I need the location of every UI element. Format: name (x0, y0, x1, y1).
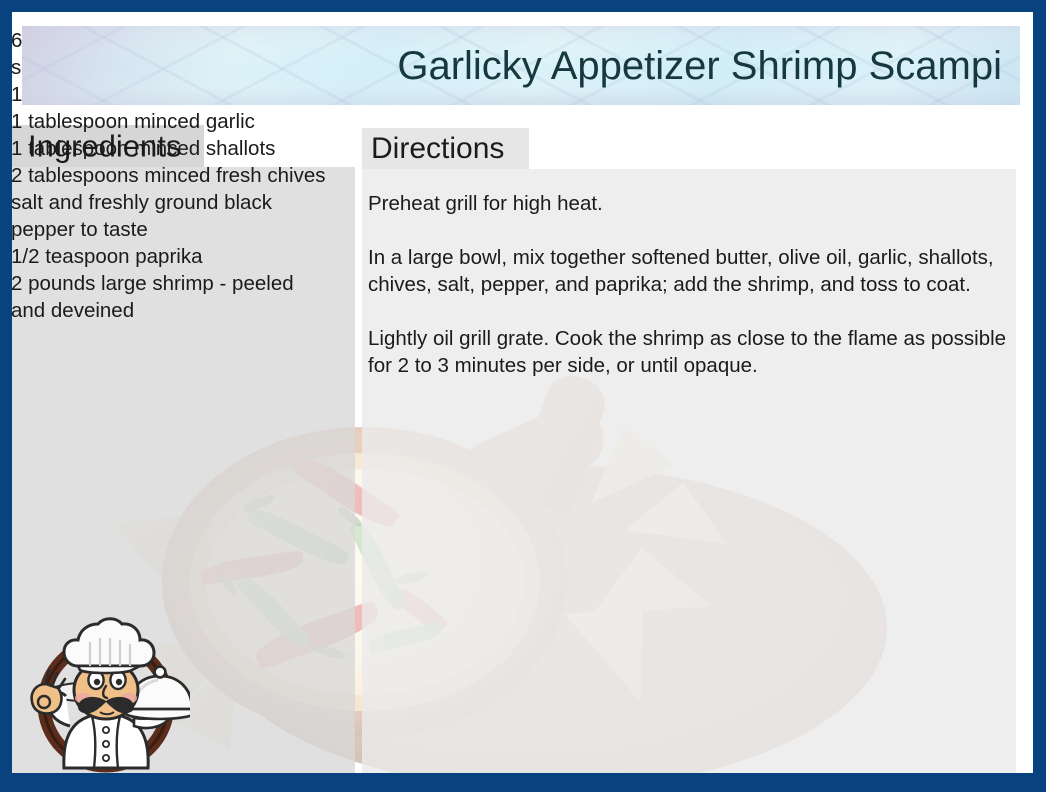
directions-body: Preheat grill for high heat.In a large b… (368, 190, 1016, 379)
chef-mascot-icon (22, 608, 190, 778)
card-border-bottom (0, 773, 1046, 792)
card-border-left (0, 0, 12, 792)
chef-mascot-logo (22, 608, 190, 778)
tab-directions[interactable]: Directions (362, 128, 529, 169)
card-border-right (1033, 0, 1046, 792)
direction-paragraph: In a large bowl, mix together softened b… (368, 244, 1016, 298)
direction-paragraph: Preheat grill for high heat. (368, 190, 1016, 217)
ingredient-item: 1 tablespoon minced garlic (11, 108, 333, 135)
card-border-top (0, 0, 1046, 12)
ingredient-item: 1/2 teaspoon paprika (11, 243, 333, 270)
direction-paragraph: Lightly oil grill grate. Cook the shrimp… (368, 325, 1016, 379)
title-banner: Garlicky Appetizer Shrimp Scampi (22, 26, 1020, 105)
ingredient-item: 2 pounds large shrimp - peeled and devei… (11, 270, 333, 324)
ingredient-item: 1 tablespoon minced shallots (11, 135, 333, 162)
ingredient-item: 2 tablespoons minced fresh chives (11, 162, 333, 189)
recipe-card: Garlicky Appetizer Shrimp Scampi Ingredi… (0, 0, 1046, 792)
page-title: Garlicky Appetizer Shrimp Scampi (397, 46, 1002, 86)
ingredient-item: salt and freshly ground black pepper to … (11, 189, 333, 243)
tab-directions-label: Directions (371, 134, 504, 164)
